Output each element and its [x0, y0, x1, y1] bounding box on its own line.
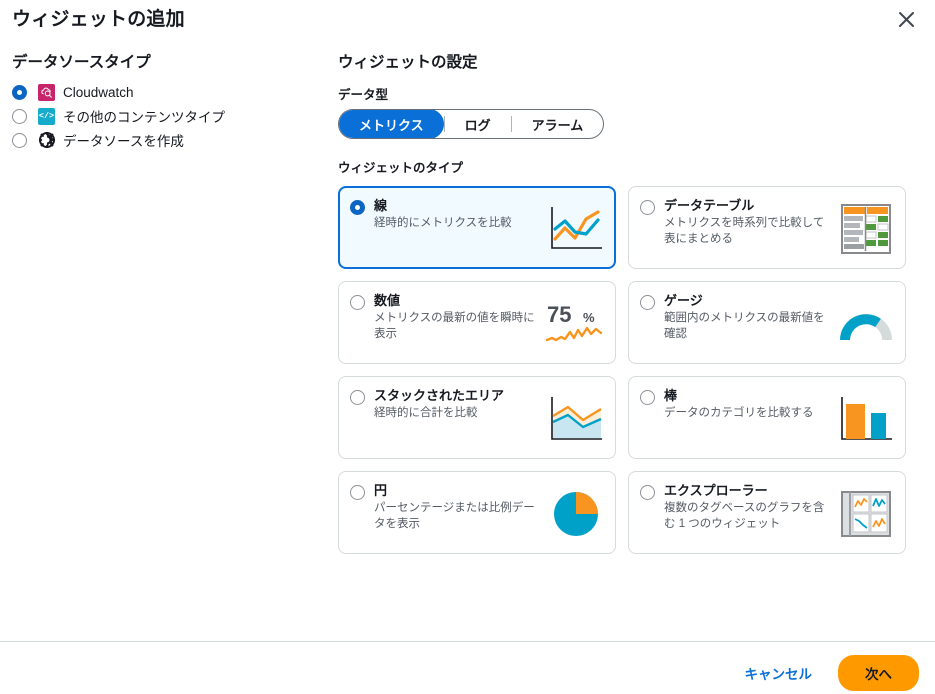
datatype-tab-metrics[interactable]: メトリクス — [339, 109, 444, 139]
datasource-label-cloudwatch: Cloudwatch — [63, 85, 134, 100]
widget-card-title: 棒 — [664, 388, 833, 404]
datatype-tab-logs[interactable]: ログ — [445, 110, 511, 138]
widget-card-desc: パーセンテージまたは比例データを表示 — [374, 501, 543, 532]
stacked-area-thumb — [547, 391, 605, 447]
datasource-option-other-content-type[interactable]: </> その他のコンテンツタイプ — [12, 106, 312, 126]
settings-heading: ウィジェットの設定 — [338, 50, 918, 72]
widget-card-desc: 経時的に合計を比較 — [374, 406, 543, 422]
widget-card-number[interactable]: 数値 メトリクスの最新の値を瞬時に表示 75 % — [338, 281, 616, 364]
radio-widget-stacked-area[interactable] — [350, 390, 365, 405]
radio-widget-bar[interactable] — [640, 390, 655, 405]
footer-divider — [0, 641, 935, 642]
widget-card-title: 線 — [374, 198, 543, 214]
explorer-thumb — [837, 486, 895, 542]
widget-card-desc: データのカテゴリを比較する — [664, 406, 833, 422]
widget-card-line[interactable]: 線 経時的にメトリクスを比較 — [338, 186, 616, 269]
datatype-segmented-control[interactable]: メトリクス ログ アラーム — [338, 109, 604, 139]
datasource-panel: データソースタイプ Cloudwatch </> その他のコンテンツタイプ — [12, 50, 312, 154]
cancel-button[interactable]: キャンセル — [735, 657, 823, 689]
widget-card-title: 円 — [374, 483, 543, 499]
widget-card-explorer[interactable]: エクスプローラー 複数のタグベースのグラフを含む 1 つのウィジェット — [628, 471, 906, 554]
radio-other-content-type[interactable] — [12, 109, 27, 124]
radio-widget-gauge[interactable] — [640, 295, 655, 310]
widget-card-desc: 複数のタグベースのグラフを含む 1 つのウィジェット — [664, 501, 833, 532]
bar-chart-thumb — [837, 391, 895, 447]
widget-card-pie[interactable]: 円 パーセンテージまたは比例データを表示 — [338, 471, 616, 554]
datasource-option-cloudwatch[interactable]: Cloudwatch — [12, 82, 312, 102]
datatype-tab-alarms[interactable]: アラーム — [512, 110, 604, 138]
radio-widget-number[interactable] — [350, 295, 365, 310]
add-widget-dialog: ウィジェットの追加 データソースタイプ Cloudwatch </> その他のコ… — [0, 0, 935, 694]
widget-card-title: 数値 — [374, 293, 539, 309]
widget-card-title: スタックされたエリア — [374, 388, 543, 404]
widgettype-label: ウィジェットのタイプ — [338, 157, 918, 176]
number-thumb: 75 % — [543, 296, 605, 352]
widget-card-title: エクスプローラー — [664, 483, 833, 499]
radio-cloudwatch[interactable] — [12, 85, 27, 100]
cloudwatch-icon — [38, 84, 55, 101]
datasource-label-create-datasource: データソースを作成 — [63, 130, 184, 150]
radio-widget-data-table[interactable] — [640, 200, 655, 215]
datasource-option-create-datasource[interactable]: データソースを作成 — [12, 130, 312, 150]
widget-card-desc: メトリクスを時系列で比較して表にまとめる — [664, 216, 833, 247]
radio-widget-pie[interactable] — [350, 485, 365, 500]
radio-widget-explorer[interactable] — [640, 485, 655, 500]
dialog-title: ウィジェットの追加 — [12, 4, 185, 31]
widget-card-stacked-area[interactable]: スタックされたエリア 経時的に合計を比較 — [338, 376, 616, 459]
number-thumb-unit: % — [583, 310, 595, 325]
next-button[interactable]: 次へ — [838, 655, 919, 691]
widget-card-title: データテーブル — [664, 198, 833, 214]
datasource-label-other-content-type: その他のコンテンツタイプ — [63, 106, 225, 126]
widget-card-data-table[interactable]: データテーブル メトリクスを時系列で比較して表にまとめる — [628, 186, 906, 269]
pie-chart-thumb — [547, 486, 605, 542]
widget-card-desc: 経時的にメトリクスを比較 — [374, 216, 543, 232]
data-table-thumb — [837, 201, 895, 257]
datatype-label: データ型 — [338, 84, 918, 103]
widget-card-desc: 範囲内のメトリクスの最新値を確認 — [664, 311, 833, 342]
radio-widget-line[interactable] — [350, 200, 365, 215]
code-icon: </> — [38, 108, 55, 125]
widget-type-grid: 線 経時的にメトリクスを比較 データテーブル メトリクスを時系列で比較して表にま… — [338, 186, 918, 554]
gear-icon — [38, 132, 55, 149]
widget-settings-panel: ウィジェットの設定 データ型 メトリクス ログ アラーム ウィジェットのタイプ … — [338, 50, 918, 554]
widget-card-title: ゲージ — [664, 293, 833, 309]
line-chart-thumb — [547, 201, 605, 257]
datasource-heading: データソースタイプ — [12, 50, 312, 72]
widget-card-gauge[interactable]: ゲージ 範囲内のメトリクスの最新値を確認 — [628, 281, 906, 364]
number-thumb-value: 75 — [547, 302, 571, 327]
close-icon[interactable] — [891, 4, 921, 34]
dialog-footer: キャンセル 次へ — [735, 655, 920, 691]
gauge-thumb — [837, 296, 895, 352]
widget-card-bar[interactable]: 棒 データのカテゴリを比較する — [628, 376, 906, 459]
widget-card-desc: メトリクスの最新の値を瞬時に表示 — [374, 311, 539, 342]
radio-create-datasource[interactable] — [12, 133, 27, 148]
